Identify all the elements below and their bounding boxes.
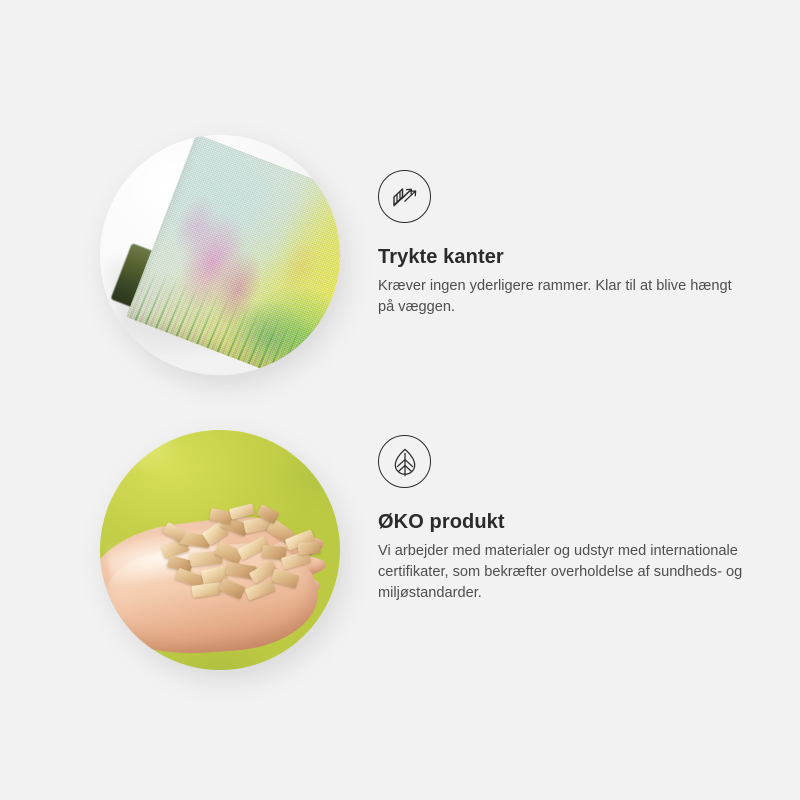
leaf-icon <box>378 435 431 488</box>
feature-text-column: Trykte kanter Kræver ingen yderligere ra… <box>378 170 770 318</box>
canvas-wrapped-edge-icon <box>378 170 431 223</box>
wood-chip <box>218 578 245 600</box>
leaf-glyph <box>389 446 421 478</box>
feature-description: Kræver ingen yderligere rammer. Klar til… <box>378 276 750 318</box>
eco-image <box>100 430 340 670</box>
wood-chip <box>229 503 255 519</box>
wood-chip-pile <box>158 496 318 600</box>
wood-chip <box>297 541 320 555</box>
product-features-panel: Trykte kanter Kræver ingen yderligere ra… <box>0 0 800 800</box>
feature-text-column: ØKO produkt Vi arbejder med materialer o… <box>378 435 770 604</box>
feature-description: Vi arbejder med materialer og udstyr med… <box>378 541 750 604</box>
wood-chip <box>245 580 275 601</box>
feature-printed-edges: Trykte kanter Kræver ingen yderligere ra… <box>0 120 800 390</box>
canvas-print-image <box>100 135 340 375</box>
feature-title: ØKO produkt <box>378 510 770 534</box>
canvas-wrapped-edge-glyph <box>389 181 421 213</box>
wood-chip <box>271 569 300 589</box>
feature-eco-product: ØKO produkt Vi arbejder med materialer o… <box>0 415 800 675</box>
wood-chip <box>191 582 220 598</box>
hands-holding-wood-chips-photo <box>100 430 340 670</box>
canvas-print-corner-photo <box>100 135 340 375</box>
feature-title: Trykte kanter <box>378 245 770 269</box>
